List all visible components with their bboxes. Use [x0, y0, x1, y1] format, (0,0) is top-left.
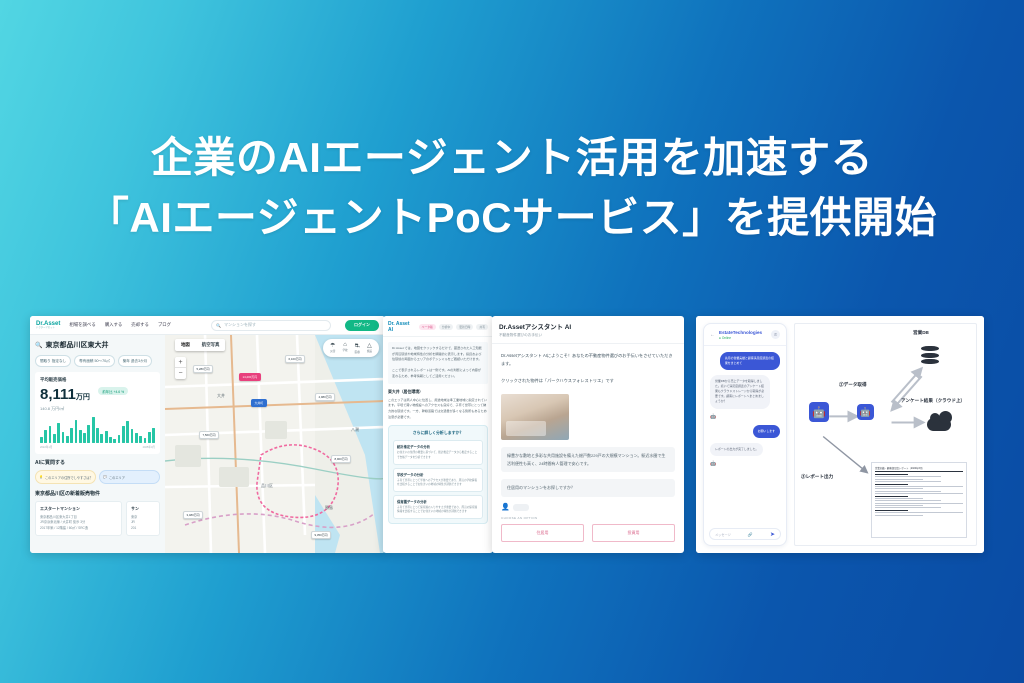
map-pin[interactable]: 9,350万円 [311, 531, 331, 539]
ai-analysis-section-title: 東大井（居住環境） [388, 389, 488, 395]
medical-icon: ⛐ [355, 342, 360, 350]
ai-analysis-header: Dr. Asset AI ベータ版 分析中 更新日時 共有 [383, 316, 493, 337]
login-button[interactable]: ログイン [345, 320, 379, 331]
chart-bar [53, 434, 56, 443]
list-item[interactable]: エスタートマンション 東京都品川区東大井1丁目 JR京浜東北線 / 大井町 徒歩… [35, 501, 122, 536]
sub-agent-robot-icon: 🤖 [857, 404, 874, 420]
database-icon [921, 346, 939, 366]
ai-analysis-paragraph-2: ここで表示されるレポートは一例です。AIの判断によって内容が変わるため、参考情報… [392, 368, 484, 379]
assistant-header: Dr.Assetアシスタント AI 不動産物件選びのお手伝い [492, 316, 684, 344]
map-pin[interactable]: 3,480万円 [183, 511, 203, 519]
ai-chip-area[interactable]: 💬 このエリア [99, 470, 160, 484]
assistant-bubble: 緑豊かな敷地と多彩な共用施設を備えた総戸数229戸の大規模マンション。駅近水圏で… [501, 447, 675, 472]
analysis-card-title: 統計推定データの分析 [397, 444, 479, 449]
analysis-card-body: 子育て世帯にとって保育園の入りやすさが重要であり、周辺の保育園情報を比較すること… [397, 506, 479, 515]
chart-bar [62, 432, 65, 443]
chart-bar [96, 428, 99, 443]
nav-item-research[interactable]: 相場を調べる [69, 322, 95, 328]
map-area-label: 品川区 [261, 483, 273, 489]
chart-bar [118, 435, 121, 443]
followup-title: さらに詳しく分析しますか？ [393, 430, 483, 436]
map-layer-tools[interactable]: ☂ 災害 ⌂ 学校 ⛐ 医療 △ 施設 [323, 339, 379, 357]
new-listings-title: 東京都品川区の新着販売物件 [35, 490, 160, 497]
ai-analysis-body: Dr.Asset では、地図をクリックするだけで、厳選された人工知能が周辺環境や… [383, 337, 493, 529]
filter-area[interactable]: 専有面積 50〜70㎡ [74, 355, 115, 367]
assistant-subtitle: 不動産物件選びのお手伝い [499, 333, 677, 338]
chart-bar [83, 433, 86, 443]
screenshot-strip: Dr.Asset ドクターアセット 相場を調べる 購入する 売却する ブログ 🔍… [0, 316, 1024, 556]
portal-query[interactable]: 🔍 東京都品川区東大井 [35, 340, 160, 350]
online-dot-icon: ● [719, 336, 721, 340]
avg-price-per-sqm: 140.8 万円/㎡ [40, 406, 155, 412]
avg-price-value: 8,111 [40, 386, 76, 403]
assistant-bubble: 住居用のマンションをお探しですか？ [501, 479, 675, 497]
hero-title: 企業のAIエージェント活用を加速する 「AIエージェントPoCサービス」を提供開… [0, 128, 1024, 247]
map-zoom-control[interactable]: + − [175, 357, 186, 379]
typing-indicator [513, 504, 529, 511]
map-tool-medical[interactable]: ⛐ 医療 [355, 342, 360, 354]
ai-analysis-share[interactable]: 共有 [476, 324, 488, 330]
chart-bar [144, 438, 147, 443]
call-icon[interactable]: ✆ [771, 330, 780, 339]
chart-bar [109, 437, 112, 443]
map-pin[interactable]: 6,100万円 [285, 355, 305, 363]
cloud-icon [927, 418, 951, 431]
back-arrow-icon[interactable]: ← [710, 332, 715, 338]
chart-bar [139, 436, 142, 443]
chart-bar [57, 423, 60, 443]
chat-status-label: Online [722, 336, 731, 340]
map-tool-disaster[interactable]: ☂ 災害 [330, 342, 335, 354]
send-icon[interactable]: ➤ [770, 531, 775, 538]
chart-bar [100, 434, 103, 443]
listing-spec: 2017年築 / 12階建 / 60㎡ / SRC造 [40, 526, 117, 531]
chart-bar [92, 417, 95, 443]
map-tool-facility-label: 施設 [367, 350, 372, 353]
chat-bubble-user: 先月の営業実績と顧客満足度調査の結果をまとめて [720, 352, 780, 370]
filter-chip-row: 間取り 指定なし 専有面積 50〜70㎡ 築年 過去3か月 [35, 355, 160, 367]
disaster-icon: ☂ [330, 342, 335, 349]
chart-bar [135, 433, 138, 443]
chart-bar [87, 425, 90, 443]
ai-analysis-intro: Dr.Asset では、地図をクリックするだけで、厳選された人工知能が周辺環境や… [388, 342, 488, 384]
ai-analysis-tag-status: 分析中 [439, 324, 453, 330]
assistant-conversation: Dr.Assetアシスタント AIにようこそ！あなたの不動産物件選びのお手伝いを… [492, 344, 684, 550]
zoom-out-icon[interactable]: − [175, 368, 186, 379]
hero-line-1: 企業のAIエージェント活用を加速する [0, 128, 1024, 188]
chart-bar [75, 420, 78, 443]
listing-spec: 201 [131, 526, 155, 531]
ai-question-title: AIに質問する [35, 459, 160, 466]
chat-bubble-user: お願いします [753, 425, 780, 438]
chart-bar [70, 428, 73, 443]
list-item[interactable]: サン 東京 JR 201 [126, 501, 160, 536]
chat-bubble-agent: 営業DBから売上データを取得しました。続いて満足度調査のアンケート結果もクラウド… [710, 375, 770, 408]
option-residential-button[interactable]: 住居用 [501, 524, 584, 542]
choose-option-label: CHOOSE AN OPTION [501, 516, 675, 520]
chart-bar [49, 426, 52, 443]
label-sales-db: 営業DB [913, 330, 929, 336]
price-history-chart [40, 417, 155, 443]
nav-item-buy[interactable]: 購入する [105, 322, 123, 328]
ai-analysis-followup: さらに詳しく分析しますか？ 統計推定データの分析 お住まいの住所の概要に基づいて… [388, 425, 488, 523]
map-tool-facility[interactable]: △ 施設 [367, 342, 372, 354]
robot-icon: 🤖 [710, 414, 780, 420]
map-area-label: 大井 [217, 393, 225, 399]
ai-analysis-updated: 更新日時 [456, 324, 473, 330]
chart-bar [44, 430, 47, 443]
chart-bar [126, 421, 129, 443]
report-title: 営業実績・顧客満足度レポート（2024年6月） [875, 466, 963, 472]
chart-axis: 2022年1月 2025年3月 [40, 445, 155, 449]
hero-line-2: 「AIエージェントPoCサービス」を提供開始 [0, 188, 1024, 248]
listing-name: サン [131, 506, 155, 512]
bulb-icon: 💡 [39, 475, 43, 479]
nav-item-sell[interactable]: 売却する [131, 322, 149, 328]
query-text: 東京都品川区東大井 [45, 340, 108, 350]
agent-flow-diagram: 営業DB 🤖 ②データ取得 🤖 アンケート結果（クラウド上） ③レポート出力 営… [794, 323, 977, 546]
analysis-card-body: お住まいの住所の概要に基づいて、統計推定データから推定することで台帳データを分析… [397, 451, 479, 460]
ai-chip-area-label: このエリア [109, 475, 125, 480]
chart-bar [113, 439, 116, 443]
panel-agent-flow[interactable]: ← EstateTechnologies ● Online ✆ 先月の営業実績と… [696, 316, 984, 553]
portal-search-input[interactable]: 🔍 マンションを探す [211, 320, 331, 331]
chart-bar [131, 429, 134, 443]
chat-window: ← EstateTechnologies ● Online ✆ 先月の営業実績と… [703, 323, 787, 546]
chart-bar [152, 428, 155, 443]
nav-item-blog[interactable]: ブログ [158, 322, 171, 328]
panel-assistant-ai[interactable]: Dr.Assetアシスタント AI 不動産物件選びのお手伝い Dr.Assetア… [492, 316, 684, 553]
zoom-in-icon[interactable]: + [175, 357, 186, 368]
avatar: 👤 [501, 504, 509, 512]
chat-input-placeholder: メッセージ [715, 532, 731, 537]
ai-analysis-section-body: このエリアは商人中心に位置し、用途地域は準工業地域に指定されています。平坦で買い… [388, 398, 488, 421]
label-report-output: ③レポート出力 [801, 474, 833, 480]
assistant-title: Dr.Assetアシスタント AI [499, 322, 677, 331]
chart-bar [148, 432, 151, 443]
label-survey-result: アンケート結果（クラウド上） [901, 398, 965, 404]
analysis-card[interactable]: 保育園データの分析 子育て世帯にとって保育園の入りやすさが重要であり、周辺の保育… [393, 495, 483, 519]
avg-price-badge: 前年比 +4.6 % [98, 387, 128, 395]
chat-icon: 💬 [103, 475, 107, 479]
chart-bar [105, 431, 108, 443]
ai-chip-row: 💡 このエリアの住所でしやすさは？ 💬 このエリア [35, 470, 160, 484]
map-canvas[interactable]: 地図 航空写真 + − ☂ 災害 ⌂ 学校 [165, 335, 385, 553]
avg-price-unit: 万円 [76, 394, 90, 401]
listing-row: エスタートマンション 東京都品川区東大井1丁目 JR京浜東北線 / 大井町 徒歩… [35, 501, 160, 536]
portal-sidebar: 🔍 東京都品川区東大井 間取り 指定なし 専有面積 50〜70㎡ 築年 過去3か… [30, 335, 165, 553]
map-toggle-map[interactable]: 地図 [175, 339, 196, 351]
school-icon: ⌂ [342, 342, 347, 348]
ai-analysis-title: Dr. Asset AI [388, 321, 416, 333]
map-tool-medical-label: 医療 [355, 351, 360, 354]
analysis-card[interactable]: 学校データの分析 子育て世帯にとって学校へのアクセスが重要であり、周辺の学校情報… [393, 468, 483, 492]
option-button-row: 住居用 投資用 [501, 524, 675, 542]
map-pin[interactable]: 4,980万円 [315, 393, 335, 401]
map-area-label: 八潮 [351, 427, 359, 433]
map-pin[interactable]: 14,200万円 [239, 373, 261, 381]
assistant-message: クリックされた物件は「パークハウスフォレストリエ」です [501, 377, 675, 385]
map-area-label: 勝島 [325, 505, 333, 511]
listing-name: エスタートマンション [40, 506, 117, 512]
analysis-card-title: 保育園データの分析 [397, 499, 479, 504]
option-investment-button[interactable]: 投資用 [592, 524, 675, 542]
filter-layout[interactable]: 間取り 指定なし [35, 355, 71, 367]
assistant-avatar-row: 👤 [501, 504, 675, 512]
map-toggle-satellite[interactable]: 航空写真 [196, 339, 226, 351]
panel-ai-area-analysis[interactable]: Dr. Asset AI ベータ版 分析中 更新日時 共有 Dr.Asset で… [383, 316, 493, 553]
chart-bar [79, 430, 82, 443]
average-price-card: 平均販売価格 8,111万円 前年比 +4.6 % 140.8 万円/㎡ 202… [35, 372, 160, 454]
chat-input[interactable]: メッセージ 🔗 ➤ [709, 528, 781, 540]
property-photo [501, 394, 569, 440]
chat-header: ← EstateTechnologies ● Online ✆ [704, 324, 786, 346]
analysis-card[interactable]: 統計推定データの分析 お住まいの住所の概要に基づいて、統計推定データから推定する… [393, 440, 483, 464]
agent-robot-icon: 🤖 [809, 402, 829, 422]
map-tool-school-label: 学校 [342, 349, 347, 352]
avg-price-label: 平均販売価格 [40, 377, 155, 383]
ai-chip-livability-label: このエリアの住所でしやすさは？ [45, 475, 93, 480]
facility-icon: △ [367, 342, 372, 349]
chart-axis-right: 2025年3月 [143, 445, 155, 449]
portal-logo-sub: ドクターアセット [36, 327, 60, 329]
map-pin-selected[interactable]: 大井町 [251, 399, 267, 407]
map-tool-school[interactable]: ⌂ 学校 [342, 342, 347, 354]
panel-property-portal[interactable]: Dr.Asset ドクターアセット 相場を調べる 購入する 売却する ブログ 🔍… [30, 316, 385, 553]
portal-logo[interactable]: Dr.Asset ドクターアセット [36, 321, 60, 329]
assistant-message: Dr.Assetアシスタント AIにようこそ！あなたの不動産物件選びのお手伝いを… [501, 352, 675, 368]
chart-bar [122, 426, 125, 443]
map-tool-disaster-label: 災害 [330, 350, 335, 353]
attach-icon[interactable]: 🔗 [748, 532, 753, 537]
search-icon: 🔍 [216, 323, 221, 328]
map-pin[interactable]: 7,560万円 [199, 431, 219, 439]
chart-bar [66, 436, 69, 443]
chat-messages: 先月の営業実績と顧客満足度調査の結果をまとめて 営業DBから売上データを取得しま… [704, 346, 786, 523]
ai-analysis-paragraph-1: Dr.Asset では、地図をクリックするだけで、厳選された人工知能が周辺環境や… [392, 346, 484, 363]
search-placeholder: マンションを探す [224, 322, 256, 328]
map-pin[interactable]: 5,280万円 [193, 365, 213, 373]
chart-bar [40, 437, 43, 443]
ai-chip-livability[interactable]: 💡 このエリアの住所でしやすさは？ [35, 470, 96, 484]
filter-period[interactable]: 築年 過去3か月 [118, 355, 153, 367]
label-data-fetch: ②データ取得 [839, 382, 867, 388]
report-document: 営業実績・顧客満足度レポート（2024年6月） [871, 462, 967, 538]
agent-chat-column: ← EstateTechnologies ● Online ✆ 先月の営業実績と… [696, 316, 794, 553]
robot-icon: 🤖 [710, 461, 780, 467]
query-search-icon: 🔍 [35, 342, 42, 349]
chart-axis-left: 2022年1月 [40, 445, 52, 449]
ai-analysis-tag-beta: ベータ版 [419, 324, 436, 330]
chat-status: ● Online [719, 336, 762, 340]
map-pin[interactable]: 8,900万円 [331, 455, 351, 463]
chat-bubble-agent: レポートの出力が完了しました。 [710, 443, 763, 456]
analysis-card-body: 子育て世帯にとって学校へのアクセスが重要であり、周辺の学校情報を比較することでお… [397, 479, 479, 488]
portal-navbar: Dr.Asset ドクターアセット 相場を調べる 購入する 売却する ブログ 🔍… [30, 316, 385, 335]
map-view-toggle[interactable]: 地図 航空写真 [175, 339, 225, 351]
analysis-card-title: 学校データの分析 [397, 472, 479, 477]
